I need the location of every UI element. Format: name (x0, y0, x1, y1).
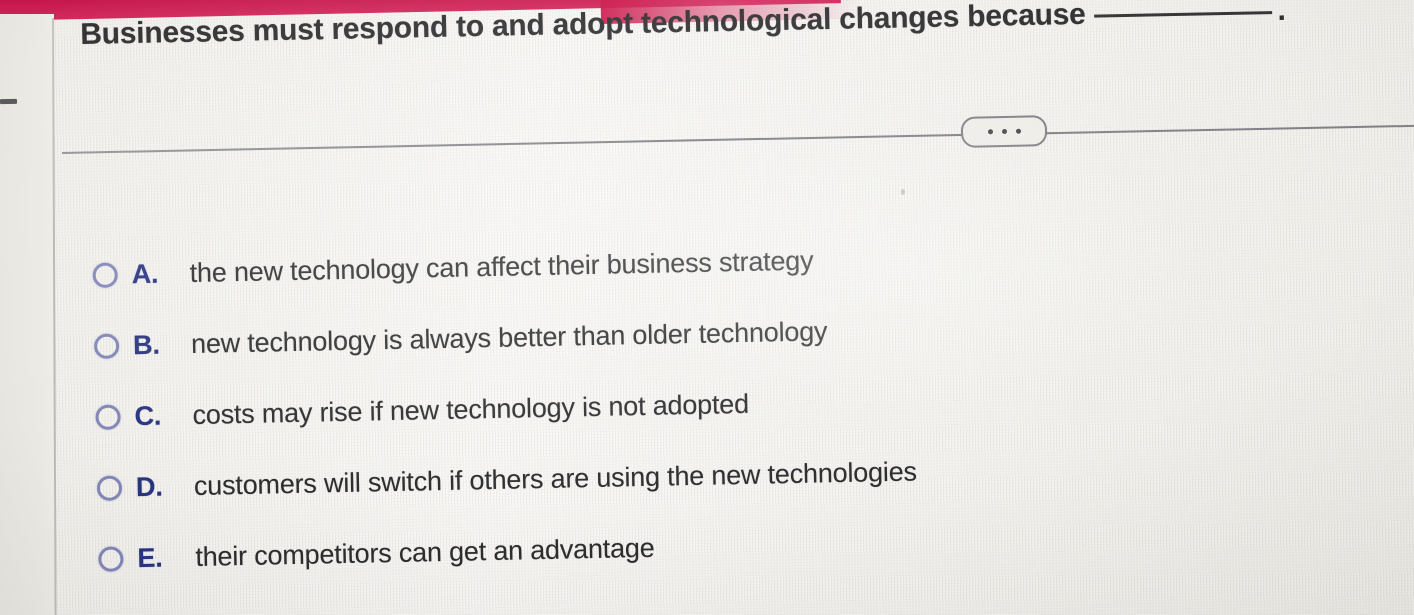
radio-button-icon-e[interactable] (98, 546, 123, 571)
more-options-ellipsis-icon[interactable] (961, 115, 1048, 148)
screenshot-root: Businesses must respond to and adopt tec… (0, 0, 1414, 615)
question-blank-underline (1095, 11, 1273, 18)
ellipsis-dot-2 (1001, 129, 1006, 134)
choice-text-a: the new technology can affect their busi… (189, 246, 813, 290)
radio-button-icon-d[interactable] (97, 475, 122, 500)
ellipsis-dot-1 (987, 129, 992, 134)
radio-button-icon-b[interactable] (94, 333, 119, 358)
choice-letter-e: E. (137, 542, 178, 574)
choice-text-e: their competitors can get an advantage (195, 533, 655, 573)
choice-text-c: costs may rise if new technology is not … (192, 389, 749, 431)
choice-letter-c: C. (134, 400, 175, 432)
page-left-gutter (0, 14, 54, 615)
choice-letter-d: D. (136, 471, 177, 503)
choice-text-d: customers will switch if others are usin… (194, 456, 917, 502)
radio-button-icon-a[interactable] (92, 262, 117, 287)
choice-text-b: new technology is always better than old… (191, 316, 828, 360)
answer-choice-list: A. the new technology can affect their b… (92, 214, 1379, 595)
choice-letter-b: B. (133, 329, 174, 361)
radio-button-icon-c[interactable] (95, 404, 120, 429)
choice-letter-a: A. (131, 258, 172, 290)
ellipsis-dot-3 (1015, 129, 1020, 134)
question-period: . (1277, 0, 1286, 28)
scrollbar-tick-marker[interactable] (0, 99, 17, 104)
